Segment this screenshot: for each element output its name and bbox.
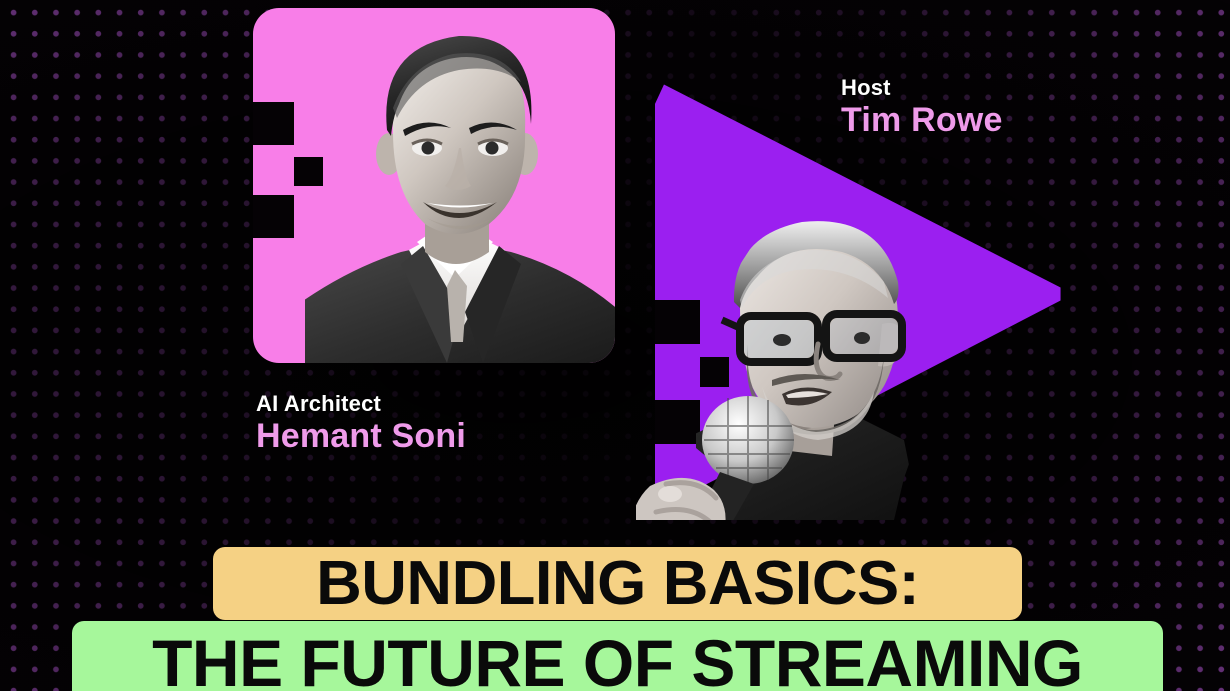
title-line-2: THE FUTURE OF STREAMING (152, 630, 1083, 691)
host-photo (636, 148, 966, 520)
guest-photo-card (253, 8, 615, 363)
title-band-secondary: THE FUTURE OF STREAMING (72, 621, 1163, 691)
guest-role-label: AI Architect (256, 392, 466, 415)
host-name-block: Host Tim Rowe (841, 76, 1003, 139)
title-line-1: BUNDLING BASICS: (316, 553, 919, 615)
guest-photo (305, 12, 615, 363)
guest-name-block: AI Architect Hemant Soni (256, 392, 466, 455)
card-notch-block-top (253, 102, 294, 145)
card-notch-block-middle (294, 157, 323, 186)
webinar-title-card: AI Architect Hemant Soni Host Tim Rowe T… (0, 0, 1230, 691)
host-role-label: Host (841, 76, 1003, 99)
host-name-label: Tim Rowe (841, 102, 1003, 139)
card-notch-block-bottom (253, 195, 294, 238)
title-band-primary: BUNDLING BASICS: (213, 547, 1022, 620)
guest-name-label: Hemant Soni (256, 418, 466, 455)
